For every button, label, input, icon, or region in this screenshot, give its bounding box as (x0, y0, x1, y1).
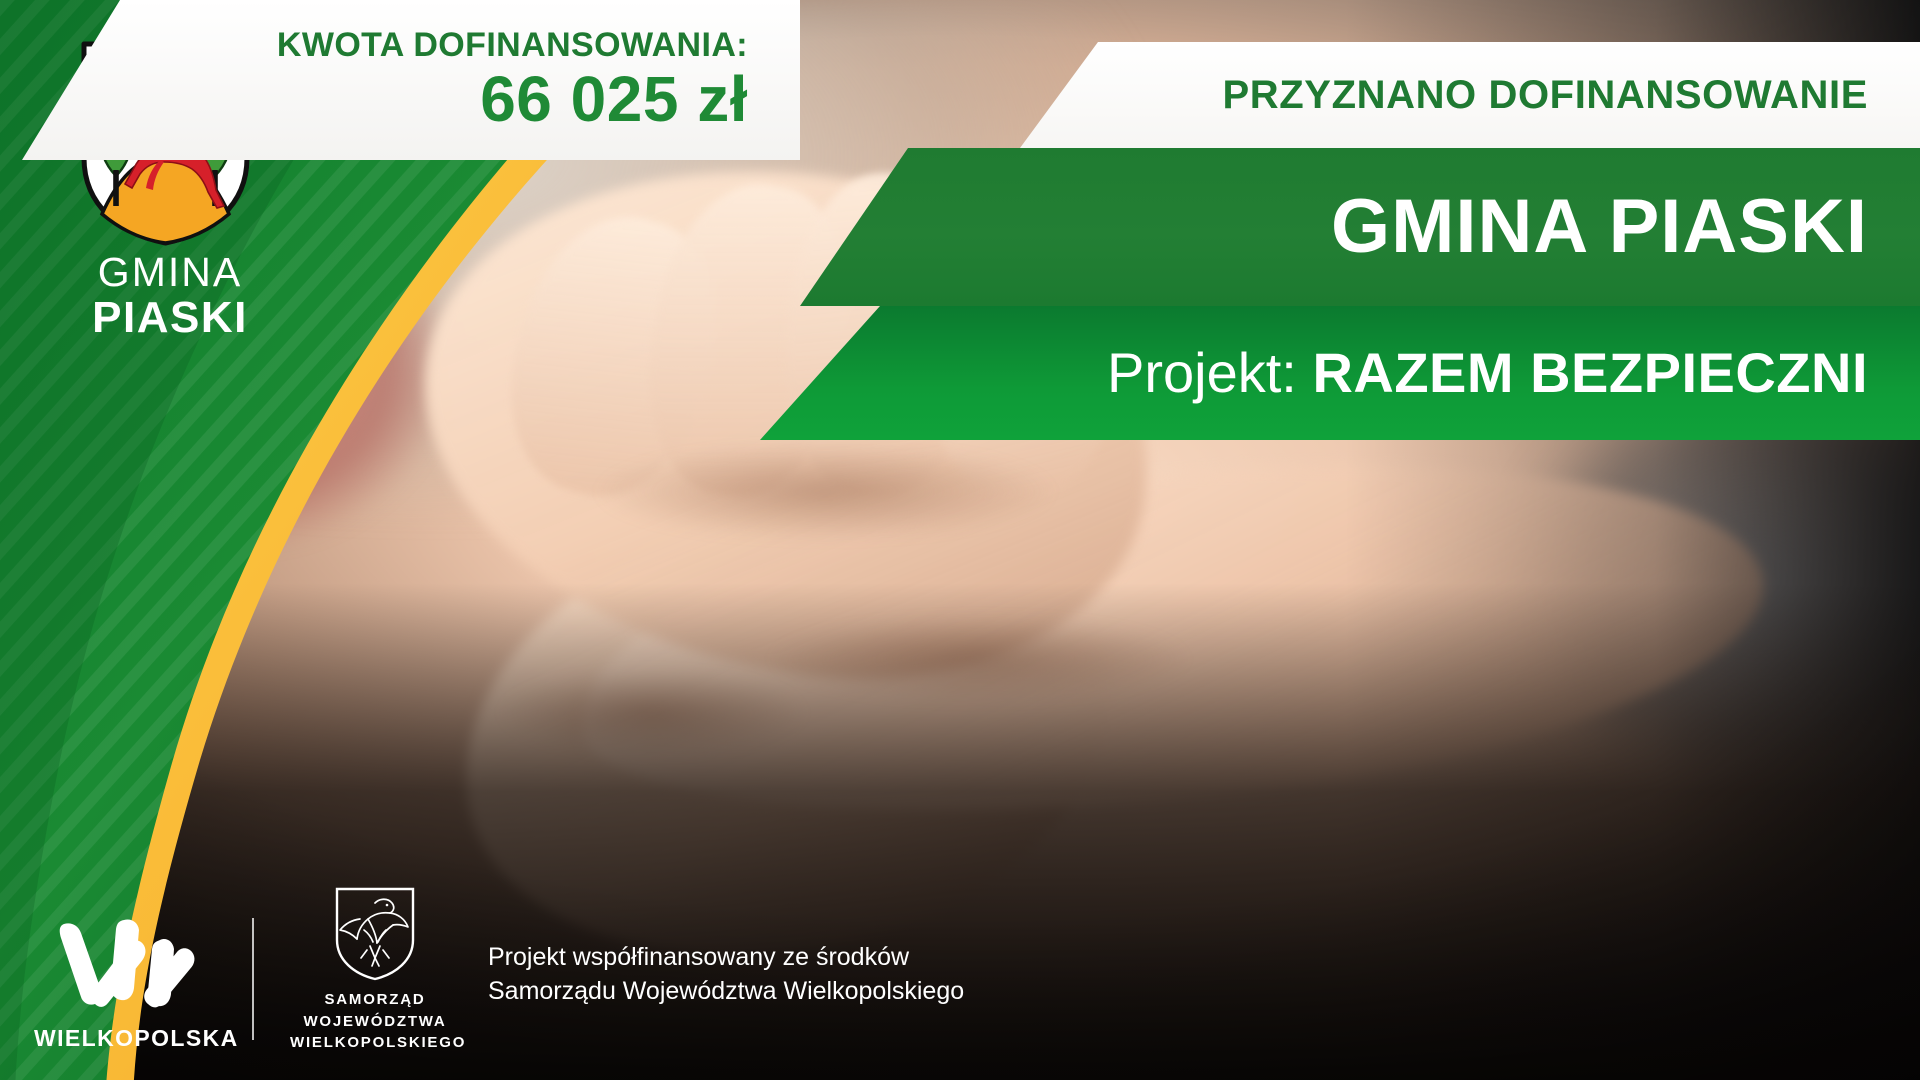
crest-line-gmina: GMINA (70, 252, 270, 293)
crest-wordmark: GMINA PIASKI (70, 252, 270, 341)
wielkopolska-caption: WIELKOPOLSKA (34, 1025, 224, 1052)
promotional-poster: GMINA PIASKI PRZYZNANO DOFINANSOWANIE GM… (0, 0, 1920, 1080)
funding-amount-label: KWOTA DOFINANSOWANIA: (277, 27, 748, 64)
announcement-banner: PRZYZNANO DOFINANSOWANIE (1020, 42, 1920, 148)
project-label: Projekt: (1107, 341, 1297, 404)
samorzad-logo: SAMORZĄD WOJEWÓDZTWA WIELKOPOLSKIEGO (290, 886, 460, 1054)
project-name: RAZEM BEZPIECZNI (1312, 341, 1868, 404)
funding-amount-value: 66 025 zł (480, 66, 748, 133)
project-banner: Projekt: RAZEM BEZPIECZNI (760, 306, 1920, 440)
municipality-banner: GMINA PIASKI (800, 148, 1920, 306)
samorzad-line3: WIELKOPOLSKIEGO (290, 1032, 460, 1054)
cofinancing-note: Projekt współfinansowany ze środków Samo… (488, 941, 964, 1008)
wielkopolska-w-brushstroke-icon (54, 914, 204, 1019)
footer-logos: WIELKOPOLSKA (0, 870, 1100, 1080)
crest-line-piaski: PIASKI (70, 295, 270, 341)
samorzad-caption: SAMORZĄD WOJEWÓDZTWA WIELKOPOLSKIEGO (290, 989, 460, 1054)
funding-amount-box: KWOTA DOFINANSOWANIA: 66 025 zł (0, 0, 800, 160)
announcement-text: PRZYZNANO DOFINANSOWANIE (1222, 73, 1868, 117)
footer-divider (252, 918, 254, 1040)
wielkopolska-eagle-shield-icon (334, 886, 416, 982)
samorzad-line1: SAMORZĄD (290, 989, 460, 1011)
cofinancing-line2: Samorządu Województwa Wielkopolskiego (488, 975, 964, 1009)
cofinancing-line1: Projekt współfinansowany ze środków (488, 941, 964, 975)
municipality-name: GMINA PIASKI (1331, 184, 1868, 269)
wielkopolska-logo: WIELKOPOLSKA (34, 914, 224, 1052)
samorzad-line2: WOJEWÓDZTWA (290, 1011, 460, 1033)
